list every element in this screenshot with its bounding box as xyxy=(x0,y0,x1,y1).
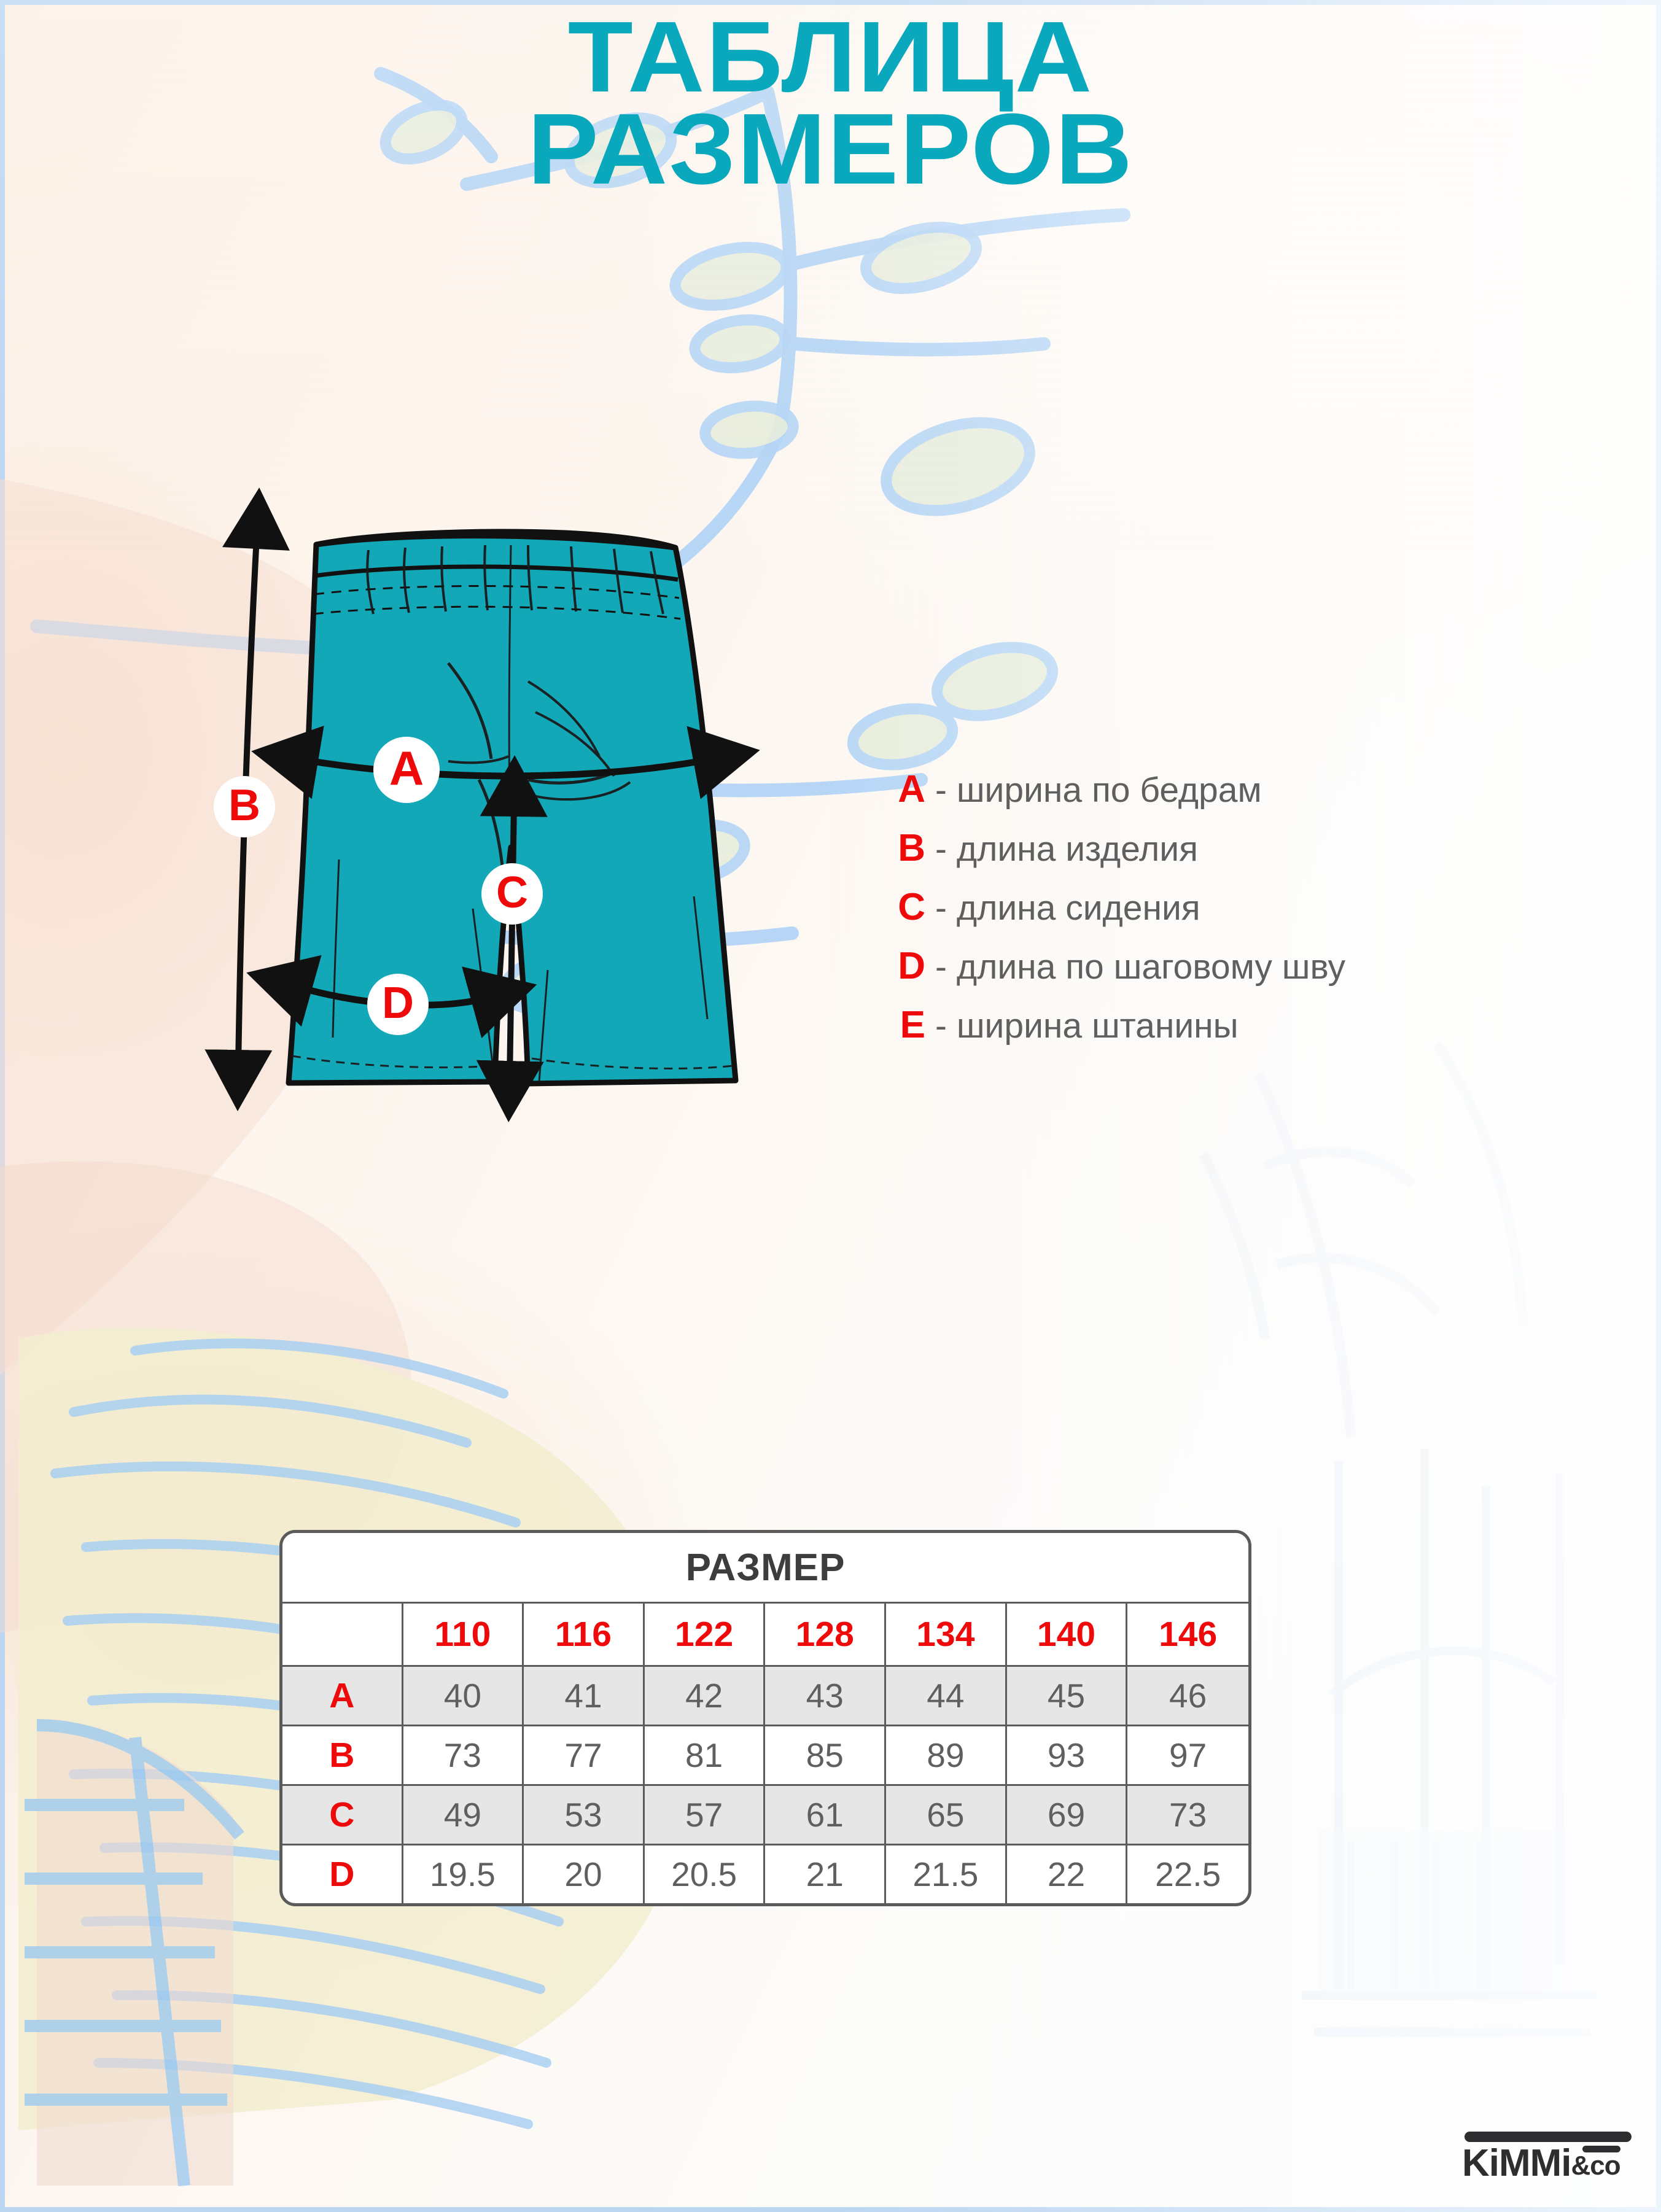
legend-item-d: D - длина по шаговому шву xyxy=(893,947,1345,1006)
cell-d-110: 19.5 xyxy=(402,1845,523,1904)
page-title-line-1: ТАБЛИЦА xyxy=(0,11,1661,103)
page-title: ТАБЛИЦА РАЗМЕРОВ xyxy=(0,11,1661,195)
brand-name-text: KiMMi&co xyxy=(1462,2144,1620,2186)
trousers-svg: A B C D xyxy=(184,516,835,1302)
marker-a-letter: A xyxy=(389,741,424,795)
marker-d-letter: D xyxy=(382,979,414,1028)
legend-text-c: - длина сидения xyxy=(935,889,1200,927)
cell-d-146: 22.5 xyxy=(1127,1845,1248,1904)
cell-a-128: 43 xyxy=(764,1666,885,1726)
legend-letter-b: B xyxy=(893,829,925,867)
table-corner-cell xyxy=(282,1603,402,1666)
table-row-d: D 19.5 20 20.5 21 21.5 22 22.5 xyxy=(282,1845,1248,1904)
row-label-a: A xyxy=(282,1666,402,1726)
size-table-grid: РАЗМЕР 110 116 122 128 134 140 146 A 40 … xyxy=(282,1533,1248,1903)
size-header-110: 110 xyxy=(402,1603,523,1666)
table-row-a: A 40 41 42 43 44 45 46 xyxy=(282,1666,1248,1726)
legend-letter-e: E xyxy=(893,1006,925,1044)
table-row-b: B 73 77 81 85 89 93 97 xyxy=(282,1726,1248,1785)
brand-co-overline xyxy=(1582,2146,1620,2152)
cell-a-116: 41 xyxy=(523,1666,644,1726)
legend-text-d: - длина по шаговому шву xyxy=(935,948,1345,986)
cell-c-146: 73 xyxy=(1127,1785,1248,1845)
cell-c-110: 49 xyxy=(402,1785,523,1845)
measurement-legend: A - ширина по бедрам B - длина изделия C… xyxy=(893,770,1345,1065)
cell-b-134: 89 xyxy=(885,1726,1006,1785)
cell-a-146: 46 xyxy=(1127,1666,1248,1726)
size-table: РАЗМЕР 110 116 122 128 134 140 146 A 40 … xyxy=(279,1530,1251,1906)
legend-text-e: - ширина штанины xyxy=(935,1007,1239,1045)
cell-b-116: 77 xyxy=(523,1726,644,1785)
cell-d-134: 21.5 xyxy=(885,1845,1006,1904)
cell-a-140: 45 xyxy=(1006,1666,1127,1726)
cell-b-110: 73 xyxy=(402,1726,523,1785)
trousers-illustration: A B C D xyxy=(184,516,835,1302)
brand-name-suffix: &co xyxy=(1571,2151,1620,2181)
cell-c-140: 69 xyxy=(1006,1785,1127,1845)
cell-c-122: 57 xyxy=(644,1785,764,1845)
legend-letter-d: D xyxy=(893,947,925,985)
legend-letter-a: A xyxy=(893,770,925,809)
legend-letter-c: C xyxy=(893,888,925,926)
size-header-134: 134 xyxy=(885,1603,1006,1666)
size-chart-page: ТАБЛИЦА РАЗМЕРОВ xyxy=(0,0,1661,2212)
marker-b-letter: B xyxy=(228,781,260,830)
cell-c-128: 61 xyxy=(764,1785,885,1845)
size-header-146: 146 xyxy=(1127,1603,1248,1666)
cell-a-122: 42 xyxy=(644,1666,764,1726)
cell-d-122: 20.5 xyxy=(644,1845,764,1904)
table-sizes-row: 110 116 122 128 134 140 146 xyxy=(282,1603,1248,1666)
cell-a-134: 44 xyxy=(885,1666,1006,1726)
cell-b-122: 81 xyxy=(644,1726,764,1785)
cell-d-128: 21 xyxy=(764,1845,885,1904)
table-caption-cell: РАЗМЕР xyxy=(282,1533,1248,1603)
row-label-d: D xyxy=(282,1845,402,1904)
cell-c-116: 53 xyxy=(523,1785,644,1845)
legend-item-a: A - ширина по бедрам xyxy=(893,770,1345,829)
cell-a-110: 40 xyxy=(402,1666,523,1726)
row-label-c: C xyxy=(282,1785,402,1845)
legend-text-a: - ширина по бедрам xyxy=(935,771,1262,809)
cell-c-134: 65 xyxy=(885,1785,1006,1845)
page-title-line-2: РАЗМЕРОВ xyxy=(0,103,1661,195)
brand-logo: KiMMi&co xyxy=(1462,2132,1632,2186)
cell-d-140: 22 xyxy=(1006,1845,1127,1904)
legend-item-e: E - ширина штанины xyxy=(893,1006,1345,1065)
measure-arrow-b: B xyxy=(214,537,275,1068)
table-caption-row: РАЗМЕР xyxy=(282,1533,1248,1603)
cell-b-128: 85 xyxy=(764,1726,885,1785)
size-header-116: 116 xyxy=(523,1603,644,1666)
size-header-128: 128 xyxy=(764,1603,885,1666)
brand-top-bar xyxy=(1465,2132,1632,2142)
size-header-140: 140 xyxy=(1006,1603,1127,1666)
bg-tree xyxy=(1204,1044,1523,1437)
cell-b-146: 97 xyxy=(1127,1726,1248,1785)
row-label-b: B xyxy=(282,1726,402,1785)
table-row-c: C 49 53 57 61 65 69 73 xyxy=(282,1785,1248,1845)
legend-text-b: - длина изделия xyxy=(935,830,1198,868)
cell-b-140: 93 xyxy=(1006,1726,1127,1785)
legend-item-c: C - длина сидения xyxy=(893,888,1345,947)
cell-d-116: 20 xyxy=(523,1845,644,1904)
brand-name-main: KiMMi xyxy=(1462,2142,1571,2184)
marker-c-letter: C xyxy=(496,868,528,917)
legend-item-b: B - длина изделия xyxy=(893,829,1345,888)
bg-bench xyxy=(25,1719,239,2186)
bg-building xyxy=(1302,1449,1597,2032)
size-header-122: 122 xyxy=(644,1603,764,1666)
